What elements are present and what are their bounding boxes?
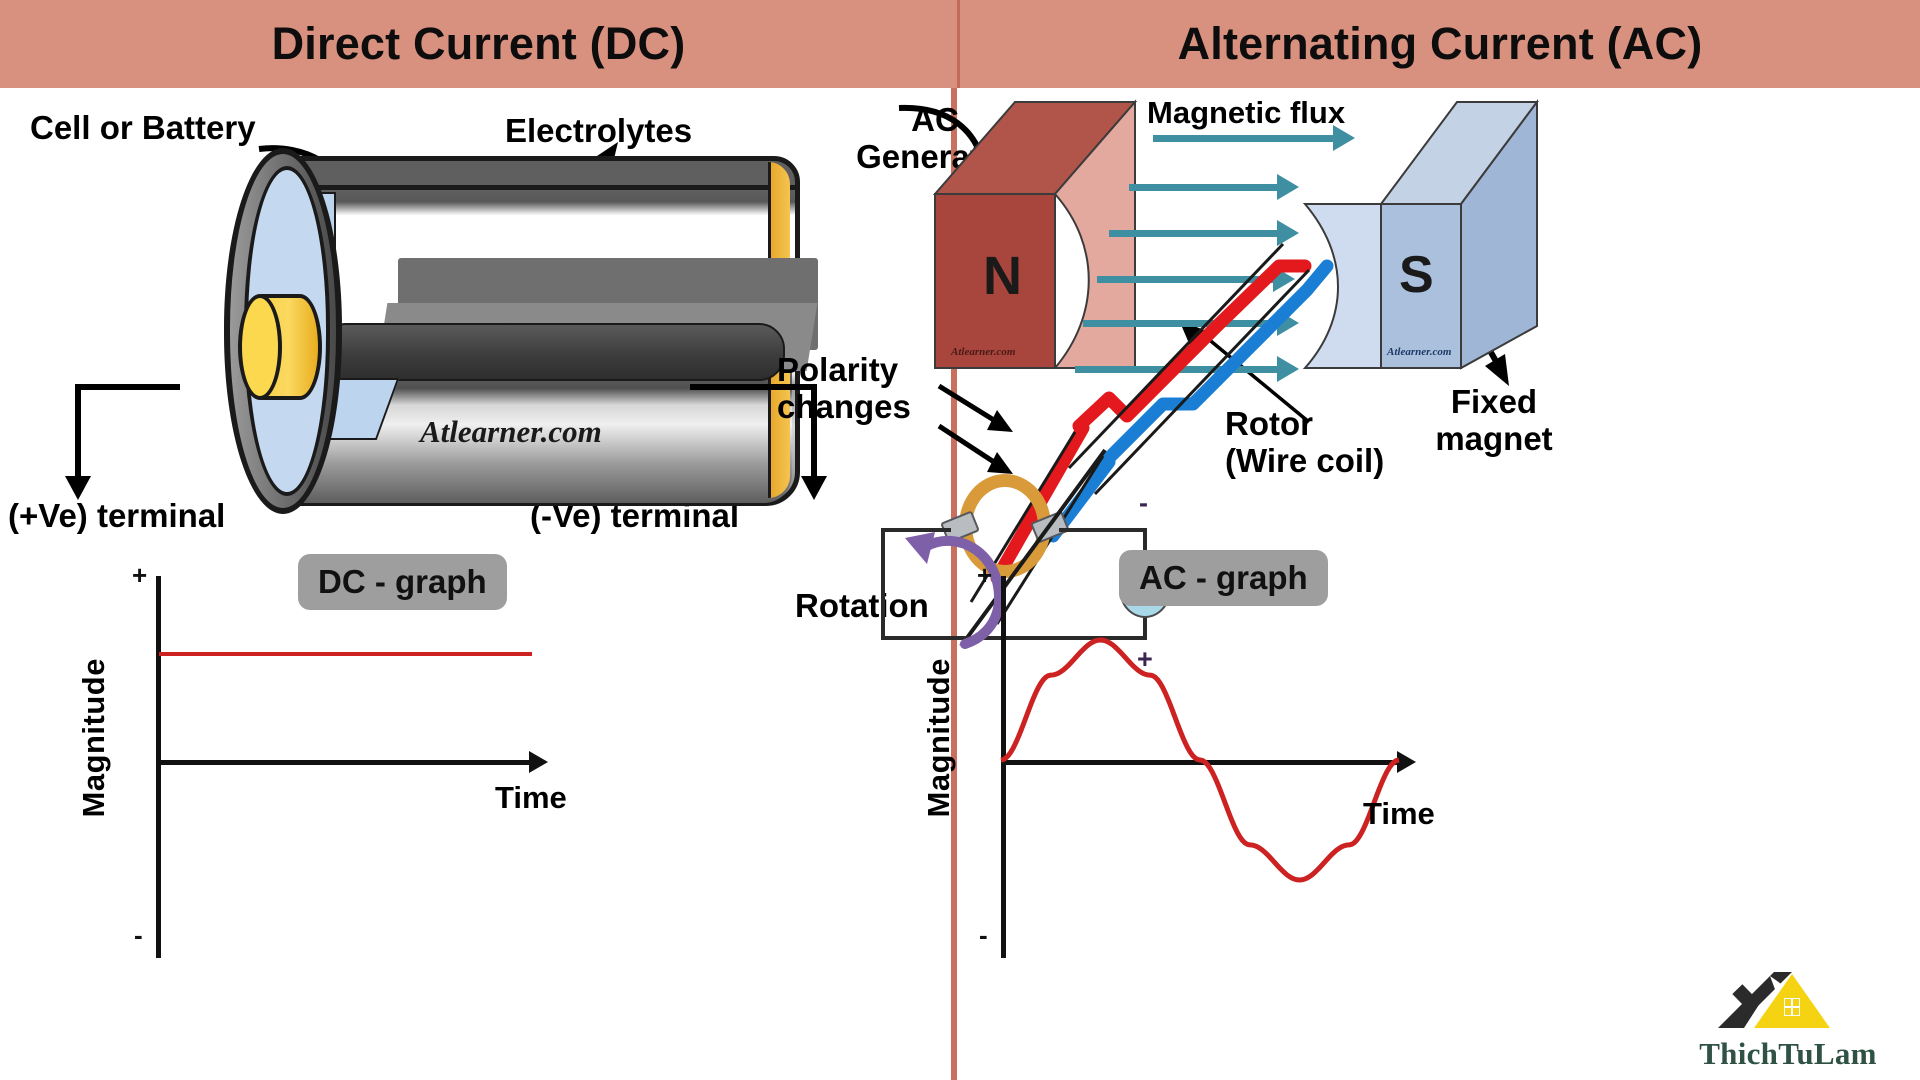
battery-illustration: Atlearner.com — [120, 148, 840, 518]
circuit-wire-top-right — [1059, 528, 1147, 532]
ac-x-axis-label: Time — [1363, 796, 1435, 832]
ac-axis-minus: - — [979, 920, 988, 951]
ac-graph-badge: AC - graph — [1119, 550, 1328, 606]
page-title-dc: Direct Current (DC) — [272, 18, 686, 70]
dc-graph: + - Magnitude Time DC - graph — [150, 568, 670, 968]
header-left: Direct Current (DC) — [0, 0, 960, 88]
positive-lead-arrowhead — [60, 474, 100, 500]
logo-text: ThichTuLam — [1688, 1036, 1888, 1072]
ac-sine-wave — [1001, 568, 1401, 958]
battery-watermark: Atlearner.com — [420, 414, 602, 450]
positive-lead-vertical — [75, 384, 81, 484]
ac-axis-plus: + — [977, 560, 992, 591]
dc-y-axis — [156, 576, 161, 958]
battery-positive-knob-face — [238, 294, 282, 400]
ac-graph: + - Magnitude Time AC - graph — [995, 568, 1555, 968]
label-cell-or-battery: Cell or Battery — [30, 110, 256, 147]
header-band: Direct Current (DC) Alternating Current … — [0, 0, 1920, 88]
ac-y-axis-label: Magnitude — [921, 658, 957, 818]
house-roof-icon — [1718, 972, 1858, 1030]
dc-x-axis-label: Time — [495, 780, 567, 816]
negative-lead-arrowhead — [796, 474, 836, 500]
dc-current-line — [159, 652, 532, 656]
south-magnet-watermark: Atlearner.com — [1387, 346, 1451, 358]
battery-carbon-rod — [320, 323, 785, 381]
svg-text:S: S — [1399, 246, 1434, 304]
battery-top-strip — [270, 156, 800, 190]
dc-axis-plus: + — [132, 560, 147, 591]
positive-lead-horizontal — [75, 384, 180, 390]
dc-x-axis — [156, 760, 531, 765]
thichtulam-logo: ThichTuLam — [1688, 972, 1888, 1072]
dc-axis-minus: - — [134, 920, 143, 951]
dc-y-axis-label: Magnitude — [76, 658, 112, 818]
dc-graph-badge: DC - graph — [298, 554, 507, 610]
label-polarity-changes: Polarity changes — [777, 352, 911, 426]
ac-panel: AC Generator Magnetic flux Polarity chan… — [957, 88, 1920, 1080]
dc-x-axis-arrowhead — [529, 751, 548, 773]
infographic-root: Direct Current (DC) Alternating Current … — [0, 0, 1920, 1080]
header-right: Alternating Current (AC) — [960, 0, 1920, 88]
dc-panel: Cell or Battery Electrolytes (+Ve) termi… — [0, 88, 951, 1080]
page-title-ac: Alternating Current (AC) — [1178, 18, 1703, 70]
polarity-negative-mark: - — [1139, 488, 1148, 519]
